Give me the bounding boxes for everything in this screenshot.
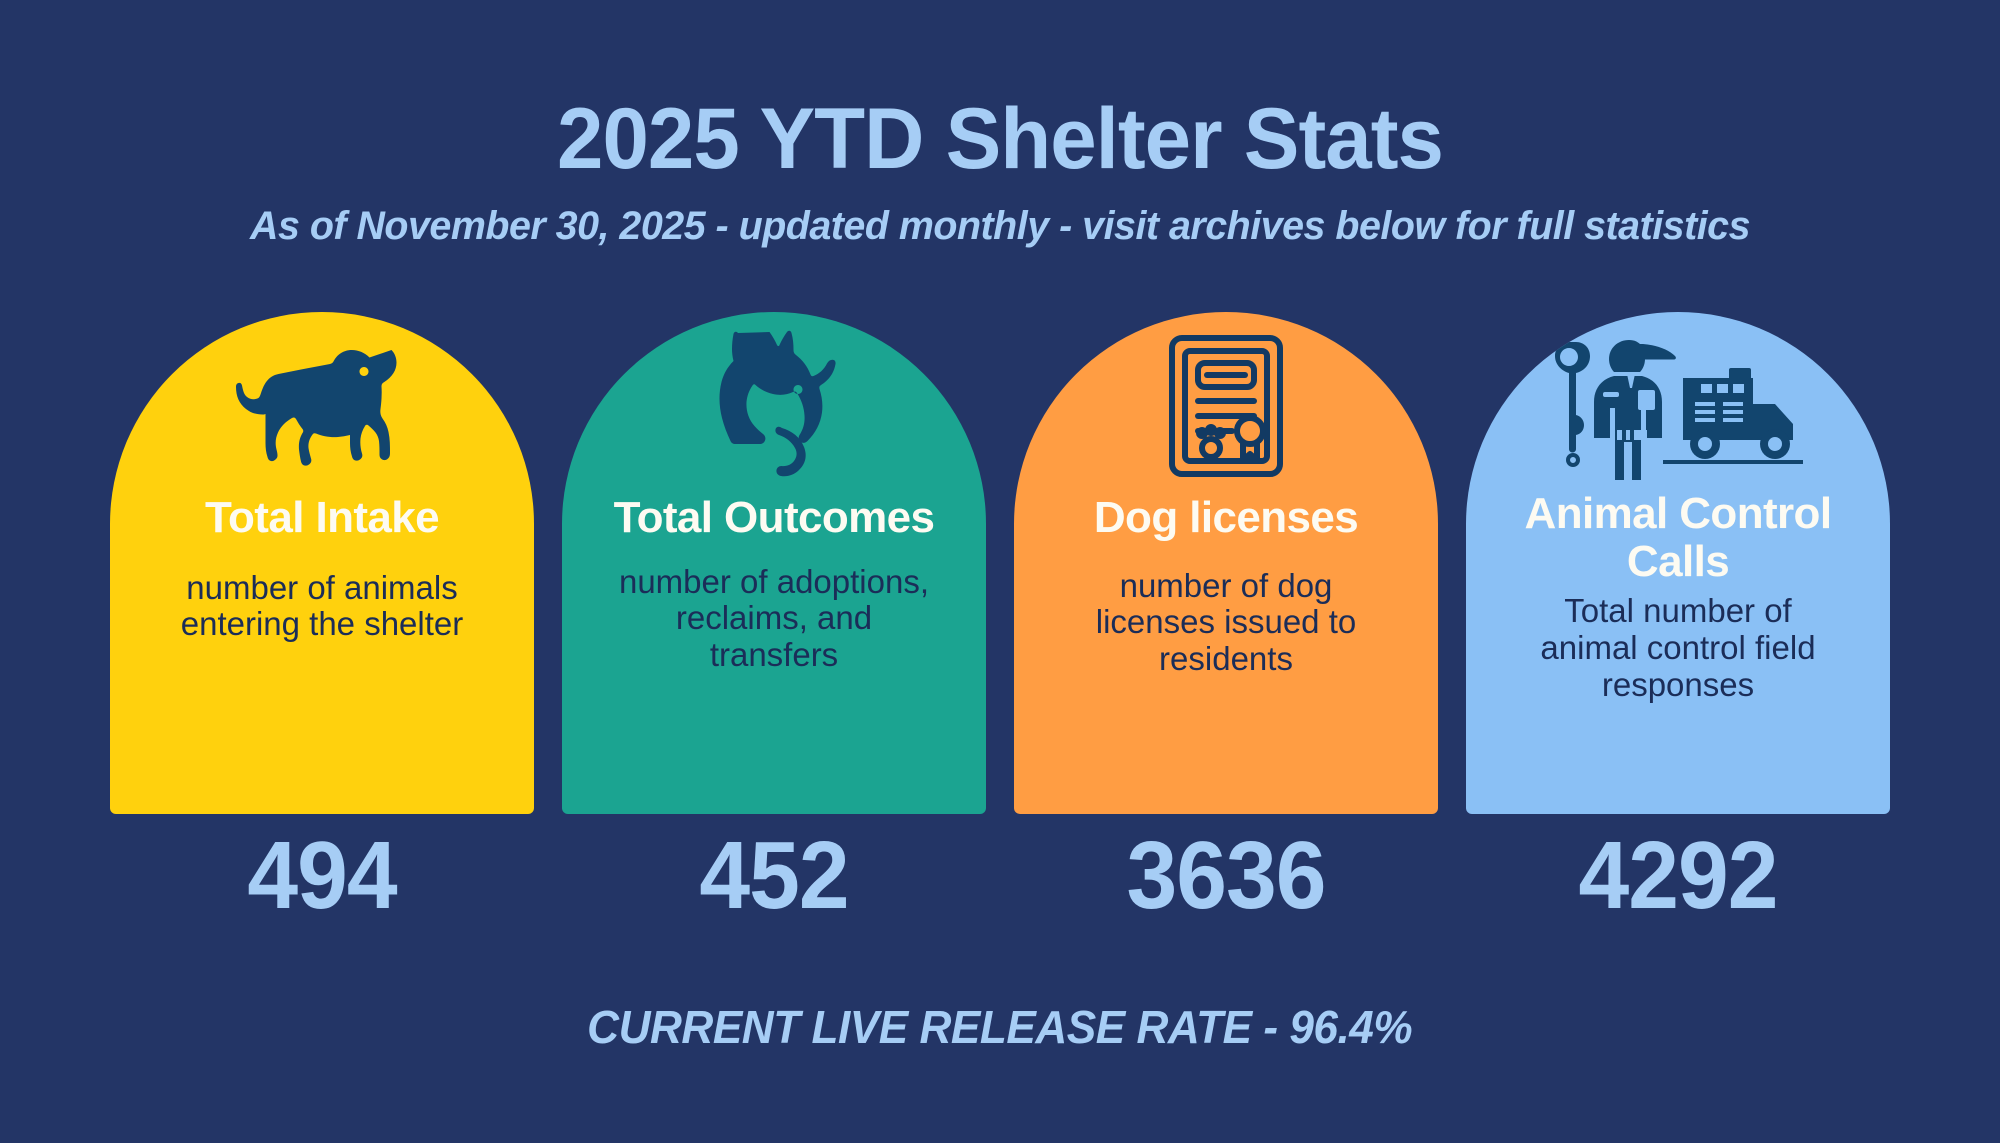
stat-card-heading: Total Outcomes	[602, 494, 947, 542]
stat-value-total-outcomes: 452	[573, 828, 976, 924]
stat-cards-row: Total Intake number of animals entering …	[110, 312, 1890, 814]
stat-card-total-outcomes: Total Outcomes number of adoptions, recl…	[562, 312, 986, 814]
cat-icon	[694, 330, 854, 480]
stat-value-total-intake: 494	[121, 828, 524, 924]
stat-card-dog-licenses: Dog licenses number of dog licenses issu…	[1014, 312, 1438, 814]
license-certificate-icon	[1166, 330, 1286, 480]
live-release-rate-text: CURRENT LIVE RELEASE RATE - 96.4%	[588, 1000, 1413, 1054]
stat-card-animal-control-calls: Animal Control Calls Total number of ani…	[1466, 312, 1890, 814]
stat-card-description: Total number of animal control field res…	[1466, 593, 1890, 704]
stat-card-heading: Dog licenses	[1082, 494, 1370, 542]
stat-card-description: number of adoptions, reclaims, and trans…	[562, 564, 986, 675]
stat-value-animal-control-calls: 4292	[1477, 828, 1880, 924]
stat-card-total-intake: Total Intake number of animals entering …	[110, 312, 534, 814]
stat-card-heading: Animal Control Calls	[1466, 490, 1890, 585]
stat-card-heading: Total Intake	[193, 494, 451, 542]
animal-control-officer-truck-icon	[1543, 330, 1813, 480]
dog-icon	[235, 330, 410, 480]
shelter-stats-infographic: 2025 YTD Shelter Stats As of November 30…	[0, 0, 2000, 1143]
stat-value-dog-licenses: 3636	[1025, 828, 1428, 924]
header: 2025 YTD Shelter Stats As of November 30…	[0, 96, 2000, 246]
page-title: 2025 YTD Shelter Stats	[30, 96, 1970, 182]
stat-card-description: number of animals entering the shelter	[110, 570, 534, 644]
footer: CURRENT LIVE RELEASE RATE - 96.4%	[0, 1000, 2000, 1054]
page-subtitle: As of November 30, 2025 - updated monthl…	[15, 206, 1985, 246]
stat-card-description: number of dog licenses issued to residen…	[1014, 568, 1438, 679]
stat-values-row: 494 452 3636 4292	[110, 828, 1890, 924]
